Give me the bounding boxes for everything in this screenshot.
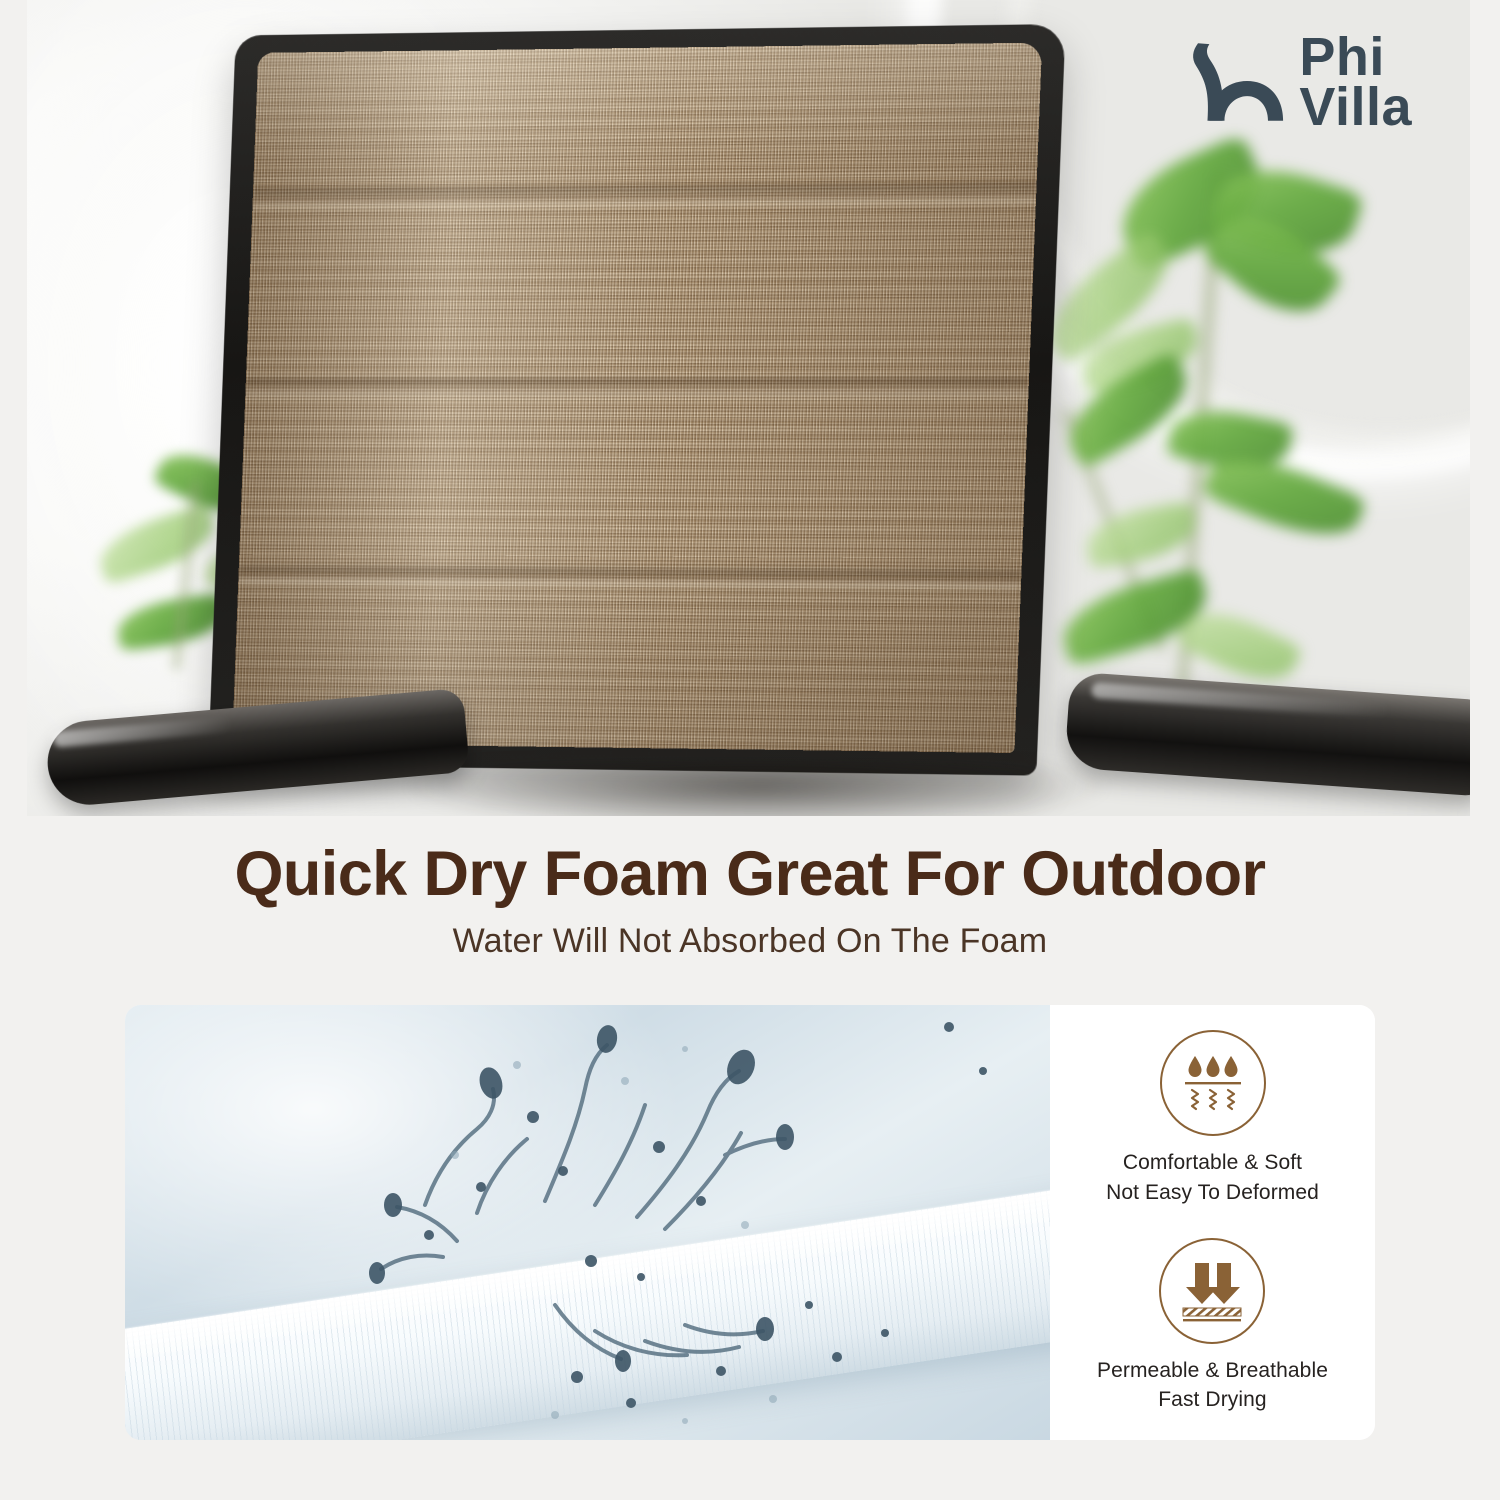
brand-line-1: Phi [1299,32,1412,82]
feature-icon-frame [1159,1238,1265,1344]
feature-icon-frame [1160,1030,1266,1136]
phi-villa-chair-mark-icon [1181,30,1285,134]
feature-caption-line-1: Permeable & Breathable [1097,1356,1328,1386]
brand-logo: Phi Villa [1181,30,1412,134]
brand-line-2: Villa [1299,82,1412,132]
water-droplets-over-breathable-surface-icon [1176,1046,1250,1120]
downward-arrows-on-permeable-layer-icon [1175,1254,1249,1328]
chair-sling-fabric [232,43,1042,753]
hero-product-photo: Phi Villa [27,0,1470,816]
feature-caption-line-1: Comfortable & Soft [1123,1148,1302,1178]
headline: Quick Dry Foam Great For Outdoor [0,838,1500,910]
seat-shadow [407,762,1107,816]
feature-item-comfortable-soft: Comfortable & Soft Not Easy To Deformed [1106,1030,1319,1208]
quilt-seam [245,378,1029,400]
brand-wordmark: Phi Villa [1299,32,1412,132]
feature-caption-line-2: Fast Drying [1158,1385,1266,1415]
feature-caption-line-2: Not Easy To Deformed [1106,1178,1319,1208]
feature-item-permeable-breathable: Permeable & Breathable Fast Drying [1097,1238,1328,1416]
subheadline: Water Will Not Absorbed On The Foam [0,922,1500,961]
patio-chair [187,20,1237,816]
water-splash-droplets-icon [125,1005,1050,1440]
feature-list: Comfortable & Soft Not Easy To Deformed [1050,1005,1375,1440]
feature-section: Comfortable & Soft Not Easy To Deformed [125,1005,1375,1440]
water-splash-photo [125,1005,1050,1440]
